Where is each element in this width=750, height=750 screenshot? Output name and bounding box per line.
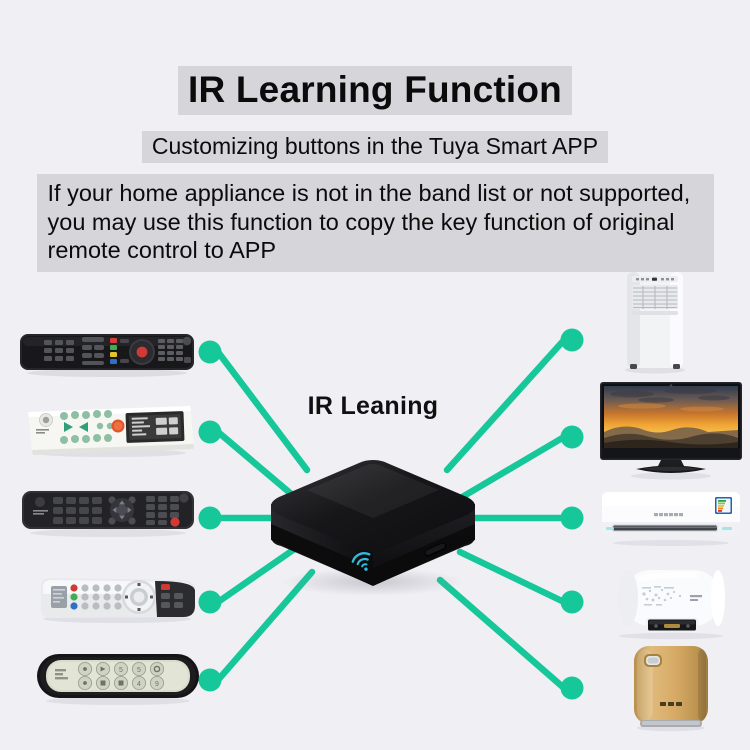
connector-dot-right-1 bbox=[561, 329, 584, 352]
remote-tv-black bbox=[18, 331, 196, 377]
appliance-water-heater bbox=[598, 562, 744, 640]
connector-dot-right-5 bbox=[561, 677, 584, 700]
svg-text:4: 4 bbox=[137, 681, 141, 688]
svg-text:9: 9 bbox=[155, 681, 159, 688]
connector-dot-right-3 bbox=[561, 507, 584, 530]
connector-dot-left-2 bbox=[199, 421, 222, 444]
infographic-canvas: IR Learning Function Customizing buttons… bbox=[0, 0, 750, 750]
connector-dot-right-4 bbox=[561, 591, 584, 614]
remote-pill-black: 5 5 4 9 bbox=[33, 650, 203, 706]
appliance-flat-screen-tv bbox=[598, 380, 744, 480]
svg-text:5: 5 bbox=[119, 667, 123, 674]
connector-dot-right-2 bbox=[561, 426, 584, 449]
remote-stb-dark bbox=[20, 487, 196, 537]
appliance-split-air-conditioner bbox=[598, 488, 744, 546]
appliance-air-purifier bbox=[612, 640, 730, 732]
ir-blaster-device: IR Leaning bbox=[253, 440, 493, 600]
svg-text:5: 5 bbox=[137, 667, 141, 674]
appliance-portable-air-conditioner bbox=[618, 268, 692, 374]
connector-dot-left-4 bbox=[199, 591, 222, 614]
remote-ac-white bbox=[22, 400, 197, 458]
remote-universal-silver bbox=[33, 572, 201, 624]
connector-dot-left-3 bbox=[199, 507, 222, 530]
connector-dot-left-1 bbox=[199, 341, 222, 364]
device-label: IR Leaning bbox=[253, 392, 493, 421]
ir-blaster-illustration bbox=[253, 440, 493, 600]
